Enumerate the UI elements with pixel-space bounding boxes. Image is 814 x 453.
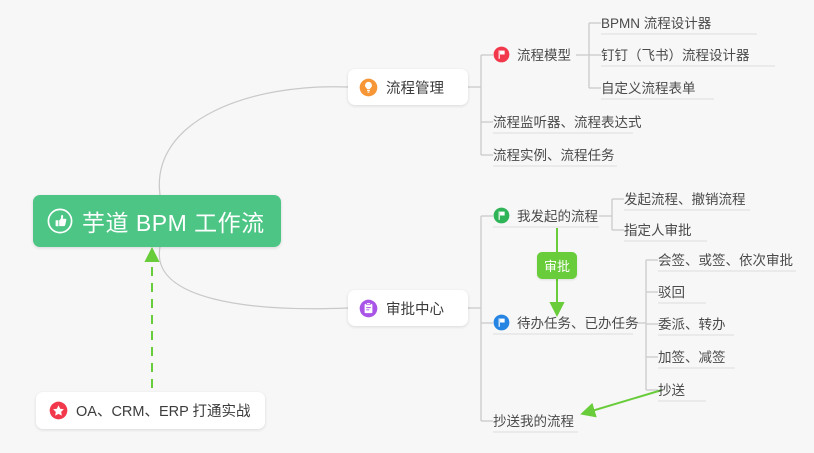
root-node[interactable]: 芋道 BPM 工作流: [33, 195, 281, 247]
clipboard-icon: [359, 299, 378, 318]
node-label: BPMN 流程设计器: [601, 12, 711, 32]
thumbs-up-icon: [47, 208, 73, 234]
node-process-model[interactable]: 流程模型: [493, 44, 571, 67]
node-cc[interactable]: 抄送: [658, 379, 685, 402]
node-label: 钉钉（飞书）流程设计器: [601, 44, 750, 64]
node-label: 指定人审批: [624, 219, 692, 239]
node-multi-sign[interactable]: 会签、或签、依次审批: [658, 249, 793, 272]
node-label: 抄送我的流程: [493, 410, 574, 430]
node-process-listener[interactable]: 流程监听器、流程表达式: [493, 111, 642, 134]
node-add-remove-sign[interactable]: 加签、减签: [658, 346, 726, 369]
lightbulb-icon: [359, 78, 378, 97]
flag-icon: [493, 314, 510, 331]
node-label: 流程管理: [386, 77, 444, 98]
node-label: 委派、转办: [658, 313, 726, 333]
node-label: 流程模型: [517, 44, 571, 64]
node-delegate-transfer[interactable]: 委派、转办: [658, 313, 726, 336]
node-my-initiated-process[interactable]: 我发起的流程: [493, 205, 598, 228]
node-label: 自定义流程表单: [601, 77, 696, 97]
node-label: 我发起的流程: [517, 205, 598, 225]
annotation-approve-badge: 审批: [537, 252, 577, 279]
node-label: 加签、减签: [658, 346, 726, 366]
star-icon: [49, 401, 68, 420]
node-approval-center[interactable]: 审批中心: [348, 290, 468, 326]
node-label: 驳回: [658, 281, 685, 301]
node-label: 流程监听器、流程表达式: [493, 111, 642, 131]
node-label: 待办任务、已办任务: [517, 312, 639, 332]
node-cc-my-process[interactable]: 抄送我的流程: [493, 410, 574, 433]
node-process-management[interactable]: 流程管理: [348, 69, 468, 105]
node-integration-practice[interactable]: OA、CRM、ERP 打通实战: [36, 392, 265, 429]
node-reject[interactable]: 驳回: [658, 281, 685, 304]
flag-icon: [493, 46, 510, 63]
root-label: 芋道 BPM 工作流: [82, 204, 265, 238]
node-assignee-approve[interactable]: 指定人审批: [624, 219, 692, 242]
node-label: 抄送: [658, 379, 685, 399]
node-todo-done-tasks[interactable]: 待办任务、已办任务: [493, 312, 639, 335]
node-custom-form[interactable]: 自定义流程表单: [601, 77, 696, 100]
node-label: 发起流程、撤销流程: [624, 188, 746, 208]
node-start-cancel-process[interactable]: 发起流程、撤销流程: [624, 188, 746, 211]
flag-icon: [493, 207, 510, 224]
node-dingtalk-designer[interactable]: 钉钉（飞书）流程设计器: [601, 44, 750, 67]
annotation-label: 审批: [544, 256, 570, 275]
node-label: OA、CRM、ERP 打通实战: [76, 400, 251, 421]
node-label: 审批中心: [386, 298, 444, 319]
node-label: 会签、或签、依次审批: [658, 249, 793, 269]
node-process-instance[interactable]: 流程实例、流程任务: [493, 144, 615, 167]
node-label: 流程实例、流程任务: [493, 144, 615, 164]
node-bpmn-designer[interactable]: BPMN 流程设计器: [601, 12, 711, 35]
mindmap-canvas: 芋道 BPM 工作流 流程管理 流程模型 BPMN 流程设计器 钉钉（飞书）流程…: [0, 0, 814, 453]
